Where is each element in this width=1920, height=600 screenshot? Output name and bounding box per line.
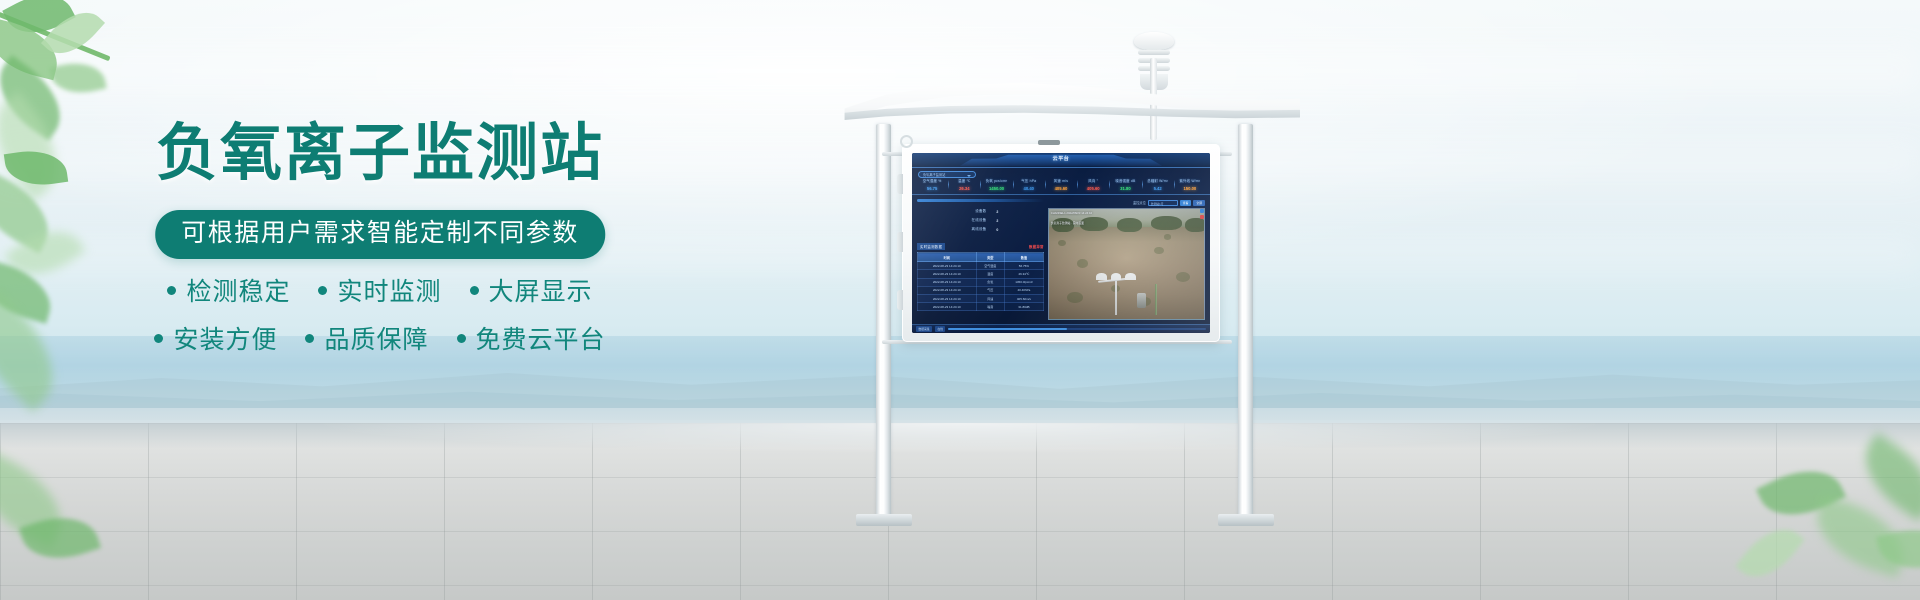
- dashboard-left-column: 设备数 2 在线设备 2 离线设备 0: [917, 199, 1044, 328]
- table-row: 2022-08-23 14:24:10 风速 405.60m/s: [918, 294, 1044, 302]
- realtime-data-table: 时间 类型 数值 2022-08-23 14:24:10 空气湿度 56.75%: [917, 252, 1044, 311]
- status-chip: 在线: [935, 326, 945, 332]
- metric-label: 气压 hPa: [1013, 178, 1045, 183]
- feature-item: 实时监测: [318, 272, 441, 308]
- kiosk-base-left: [856, 514, 912, 526]
- table-header-cell: 类型: [976, 253, 1005, 262]
- bullet-dot-icon: [318, 286, 327, 295]
- metric-label: 负氧 pcs/cm³: [980, 178, 1012, 183]
- bullet-dot-icon: [305, 334, 314, 343]
- table-cell: 26.34℃: [1005, 270, 1044, 278]
- metric-card: 噪音强度 dB 31.80: [1109, 178, 1141, 191]
- metric-label: 紫外线 W/m²: [1174, 178, 1206, 183]
- camera-feed[interactable]: CHANNEL1 2022/08/23 14:24:10 负氧离子监测站 · 实…: [1048, 208, 1205, 320]
- kiosk-post-left: [876, 124, 891, 520]
- feature-item: 检测稳定: [167, 272, 290, 308]
- table-cell: 2022-08-23 14:24:10: [918, 262, 977, 270]
- progress-bar: [948, 328, 1206, 331]
- dashboard-title: 云平台: [912, 155, 1210, 162]
- status-chip: 数据采集: [916, 326, 932, 332]
- camera-overlay-label: 负氧离子监测站 · 实时画面: [1051, 221, 1084, 225]
- metric-value: 150.00: [1174, 186, 1206, 191]
- table-cell: 2022-08-23 14:24:10: [918, 286, 977, 294]
- table-title: 实时监测数据: [917, 243, 945, 250]
- stat-value: 0: [996, 228, 1002, 232]
- metric-card: 气压 hPa 40.40: [1013, 178, 1045, 191]
- table-cell: 31.80dB: [1005, 303, 1044, 311]
- table-row: 2022-08-23 14:24:10 气压 40.40hPa: [918, 286, 1044, 294]
- monitoring-station-kiosk: 云平台 负氧离子监测站 空气湿度 % 56.75 温度 ℃ 26.34 负氧 p…: [840, 28, 1320, 548]
- metric-value: 405.60: [1045, 186, 1077, 191]
- feature-label: 大屏显示: [489, 272, 593, 308]
- feature-item: 品质保障: [305, 320, 428, 356]
- table-cell: 风速: [976, 294, 1005, 302]
- table-cell: 2022-08-23 14:24:10: [918, 294, 977, 302]
- page-title: 负氧离子监测站: [0, 122, 760, 184]
- table-row: 2022-08-23 14:24:10 负氧 1450.0/pcm3: [918, 278, 1044, 286]
- metric-card: 紫外线 W/m² 150.00: [1174, 178, 1206, 191]
- stat-value: 2: [996, 219, 1002, 223]
- metric-label: 风向 °: [1077, 178, 1109, 183]
- bullet-dot-icon: [154, 334, 163, 343]
- table-header-cell: 数值: [1005, 253, 1044, 262]
- camera-view-button[interactable]: 查看: [1180, 200, 1192, 206]
- camera-overlay-timestamp: CHANNEL1 2022/08/23 14:24:10: [1051, 211, 1092, 215]
- camera-toolbar: 监控点位 监测站1号 查看 全屏: [1048, 199, 1205, 206]
- camera-side-icons: [1200, 209, 1204, 219]
- metric-card: 总辐射 W/m² 5.42: [1142, 178, 1174, 191]
- feature-label: 品质保障: [324, 320, 428, 356]
- feature-row-1: 检测稳定 实时监测 大屏显示: [167, 272, 592, 308]
- table-cell: 1450.0/pcm3: [1005, 278, 1044, 286]
- dashboard-body: 设备数 2 在线设备 2 离线设备 0: [912, 195, 1210, 332]
- kiosk-base-right: [1218, 514, 1274, 526]
- camera-fullscreen-button[interactable]: 全屏: [1193, 200, 1205, 206]
- cabinet-hinge: [897, 174, 903, 194]
- metric-label: 风速 m/s: [1045, 178, 1077, 183]
- table-alert-label: 数据异常: [1029, 244, 1044, 249]
- table-row: 2022-08-23 14:24:10 温度 26.34℃: [918, 270, 1044, 278]
- panel-header-accent: [917, 199, 1044, 202]
- table-cell: 空气湿度: [976, 262, 1005, 270]
- metric-card: 风向 ° 405.60: [1077, 178, 1109, 191]
- metric-card: 负氧 pcs/cm³ 1450.00: [980, 178, 1012, 191]
- metric-value: 31.80: [1109, 186, 1141, 191]
- table-cell: 负氧: [976, 278, 1005, 286]
- metric-card-row: 空气湿度 % 56.75 温度 ℃ 26.34 负氧 pcs/cm³ 1450.…: [912, 178, 1210, 195]
- feature-item: 大屏显示: [470, 272, 593, 308]
- subtitle-pill: 可根据用户需求智能定制不同参数: [155, 210, 605, 259]
- feature-label: 免费云平台: [476, 320, 606, 356]
- dashboard-header: 云平台: [912, 153, 1210, 168]
- bullet-dot-icon: [167, 286, 176, 295]
- table-cell: 40.40hPa: [1005, 286, 1044, 294]
- metric-value: 40.40: [1013, 186, 1045, 191]
- dashboard-right-column: 监控点位 监测站1号 查看 全屏: [1048, 199, 1205, 328]
- metric-label: 总辐射 W/m²: [1142, 178, 1174, 183]
- feature-label: 检测稳定: [186, 272, 290, 308]
- metric-label: 温度 ℃: [948, 178, 980, 183]
- table-cell: 2022-08-23 14:24:10: [918, 278, 977, 286]
- stat-row: 设备数 2: [917, 209, 1044, 214]
- metric-label: 空气湿度 %: [916, 178, 948, 183]
- metric-value: 5.42: [1142, 186, 1174, 191]
- stat-row: 离线设备 0: [917, 227, 1044, 232]
- table-cell: 噪音: [976, 303, 1005, 311]
- camera-vignette: [1049, 209, 1204, 319]
- table-cell: 2022-08-23 14:24:10: [918, 270, 977, 278]
- feature-list: 检测稳定 实时监测 大屏显示 安装方便 品质保障: [0, 272, 760, 356]
- stat-value: 2: [996, 210, 1002, 214]
- data-table-title-bar: 实时监测数据 数据异常: [917, 243, 1044, 250]
- stat-label: 离线设备: [958, 227, 986, 232]
- kiosk-post-right: [1238, 124, 1253, 520]
- kiosk-canopy: [840, 80, 1300, 142]
- feature-label: 安装方便: [173, 320, 277, 356]
- sensor-ring: [1138, 50, 1170, 55]
- table-cell: 2022-08-23 14:24:10: [918, 303, 977, 311]
- table-cell: 气压: [976, 286, 1005, 294]
- stat-label: 设备数: [958, 209, 986, 214]
- metric-card: 空气湿度 % 56.75: [916, 178, 948, 191]
- alert-icon[interactable]: [1200, 215, 1204, 219]
- stat-row: 在线设备 2: [917, 218, 1044, 223]
- dashboard-screen[interactable]: 云平台 负氧离子监测站 空气湿度 % 56.75 温度 ℃ 26.34 负氧 p…: [912, 153, 1210, 333]
- table-cell: 405.60m/s: [1005, 294, 1044, 302]
- stat-label: 在线设备: [958, 218, 986, 223]
- table-row: 2022-08-23 14:24:10 空气湿度 56.75%: [918, 262, 1044, 270]
- camera-toolbar-label: 监控点位: [1133, 200, 1146, 205]
- metric-value: 56.75: [916, 186, 948, 191]
- feature-row-2: 安装方便 品质保障 免费云平台: [154, 320, 605, 356]
- table-header-row: 时间 类型 数值: [918, 253, 1044, 262]
- dashboard-status-bar: 数据采集 在线: [912, 324, 1210, 333]
- device-stats-panel: 设备数 2 在线设备 2 离线设备 0: [917, 206, 1044, 241]
- metric-value: 26.34: [948, 186, 980, 191]
- table-row: 2022-08-23 14:24:10 噪音 31.80dB: [918, 303, 1044, 311]
- metric-label: 噪音强度 dB: [1109, 178, 1141, 183]
- metric-value: 405.60: [1077, 186, 1109, 191]
- station-selector-dropdown[interactable]: 负氧离子监测站: [918, 171, 976, 178]
- record-icon[interactable]: [1200, 209, 1204, 213]
- cabinet-hinge: [897, 290, 903, 310]
- metric-card: 温度 ℃ 26.34: [948, 178, 980, 191]
- table-header-cell: 时间: [918, 253, 977, 262]
- cabinet-latch-icon: [1038, 140, 1060, 145]
- cabinet-hook-icon: [900, 135, 913, 148]
- cabinet-hinge: [897, 232, 903, 252]
- display-cabinet: 云平台 负氧离子监测站 空气湿度 % 56.75 温度 ℃ 26.34 负氧 p…: [902, 144, 1220, 342]
- feature-item: 安装方便: [154, 320, 277, 356]
- table-cell: 56.75%: [1005, 262, 1044, 270]
- feature-label: 实时监测: [337, 272, 441, 308]
- metric-card: 风速 m/s 405.60: [1045, 178, 1077, 191]
- table-cell: 温度: [976, 270, 1005, 278]
- bullet-dot-icon: [470, 286, 479, 295]
- metric-value: 1450.00: [980, 186, 1012, 191]
- banner-stage: 负氧离子监测站 可根据用户需求智能定制不同参数 检测稳定 实时监测 大屏显示: [0, 0, 1920, 600]
- weather-sensor-head-icon: [1134, 32, 1174, 50]
- camera-select[interactable]: 监测站1号: [1148, 200, 1178, 206]
- bullet-dot-icon: [457, 334, 466, 343]
- feature-item: 免费云平台: [457, 320, 606, 356]
